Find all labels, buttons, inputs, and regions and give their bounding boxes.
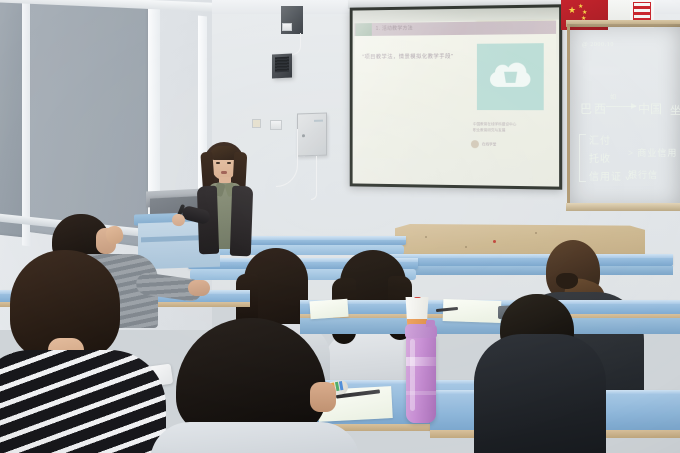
student-ear <box>310 382 336 412</box>
window-curtain-main <box>30 0 150 248</box>
blackboard-right-note: > 商业信用 <box>628 146 677 159</box>
wall-speaker-icon <box>272 53 292 78</box>
classroom-photo: 1. 活动教学方法 "项目教学法，情景模拟化教学手段" 中国教育在线学科建设中心… <box>0 0 680 453</box>
blackboard-list-item: 信用证 ✓ <box>589 168 633 183</box>
slide-header-bar: 1. 活动教学方法 <box>355 21 557 36</box>
power-socket <box>282 23 292 31</box>
wall-outlet <box>252 119 261 128</box>
panel-latch-icon <box>302 134 305 137</box>
cable <box>311 156 317 200</box>
slide-illustration <box>477 43 544 110</box>
blackboard-line-left: 巴西 <box>580 100 608 117</box>
thermos-button-icon <box>426 320 435 327</box>
blackboard-list-item: 汇付 <box>589 132 611 147</box>
blackboard-chalk-tray <box>566 203 680 211</box>
chalk-arrow-icon <box>606 106 636 107</box>
blackboard: @ 2000.10 巴西 如 中国 坐 汇付 托收 信用证 ✓ > 商业信用 银… <box>567 24 680 208</box>
slide-header-text: 1. 活动教学方法 <box>376 25 413 32</box>
student-torso <box>150 422 360 453</box>
slide-caption-line: 职业教育研究与发展 <box>473 128 544 134</box>
blackboard-line-right: 中国 <box>638 100 662 117</box>
slide-caption: 中国教育在线学科建设中心 职业教育研究与发展 <box>473 122 544 133</box>
blackboard-right-note: 银行信 <box>628 168 658 181</box>
cloud-icon <box>490 63 530 91</box>
electrical-panel-box <box>297 112 327 156</box>
panel-label <box>314 120 323 122</box>
slide-badge-icon <box>355 23 371 36</box>
student-short-hair-man <box>160 318 350 453</box>
slide-logo-text: 在线学堂 <box>482 142 496 147</box>
student-hand <box>188 280 210 296</box>
presenter-mouth <box>221 171 227 174</box>
student-dark-clothing-right <box>470 300 600 453</box>
student-torso <box>474 334 606 453</box>
slide-logo-icon <box>471 140 479 148</box>
projector-screen: 1. 活动教学方法 "项目教学法，情景模拟化教学手段" 中国教育在线学科建设中心… <box>350 4 562 189</box>
slide-logo-row: 在线学堂 <box>471 139 544 150</box>
projection-surface: 1. 活动教学方法 "项目教学法，情景模拟化教学手段" 中国教育在线学科建设中心… <box>353 7 560 186</box>
thermos-highlight <box>410 339 415 411</box>
presenter-jacket-right <box>230 186 253 257</box>
blackboard-line-small: 如 <box>610 92 616 101</box>
student-torso-striped-bw <box>0 350 166 453</box>
blackboard-list-item: 托收 <box>589 150 611 165</box>
slide-title: "项目教学法，情景模拟化教学手段" <box>362 52 453 61</box>
hair-tie-icon <box>556 273 578 289</box>
student-striped-top-woman <box>0 250 176 453</box>
cup-icon <box>504 72 517 83</box>
student-hair <box>176 318 326 434</box>
blackboard-line-tail: 坐 <box>670 102 680 118</box>
purple-thermos-bottle <box>406 333 436 423</box>
chalk-smudge <box>588 66 622 76</box>
speaker-grill-icon <box>275 57 289 73</box>
presenter-eye <box>216 162 220 164</box>
presentation-slide: 1. 活动教学方法 "项目教学法，情景模拟化教学手段" 中国教育在线学科建设中心… <box>355 21 557 160</box>
presenter-eye <box>227 162 231 164</box>
chalk-brace-icon <box>579 134 586 182</box>
worksheet-paper <box>309 299 348 320</box>
blackboard-date-note: @ 2000.10 <box>582 42 614 48</box>
